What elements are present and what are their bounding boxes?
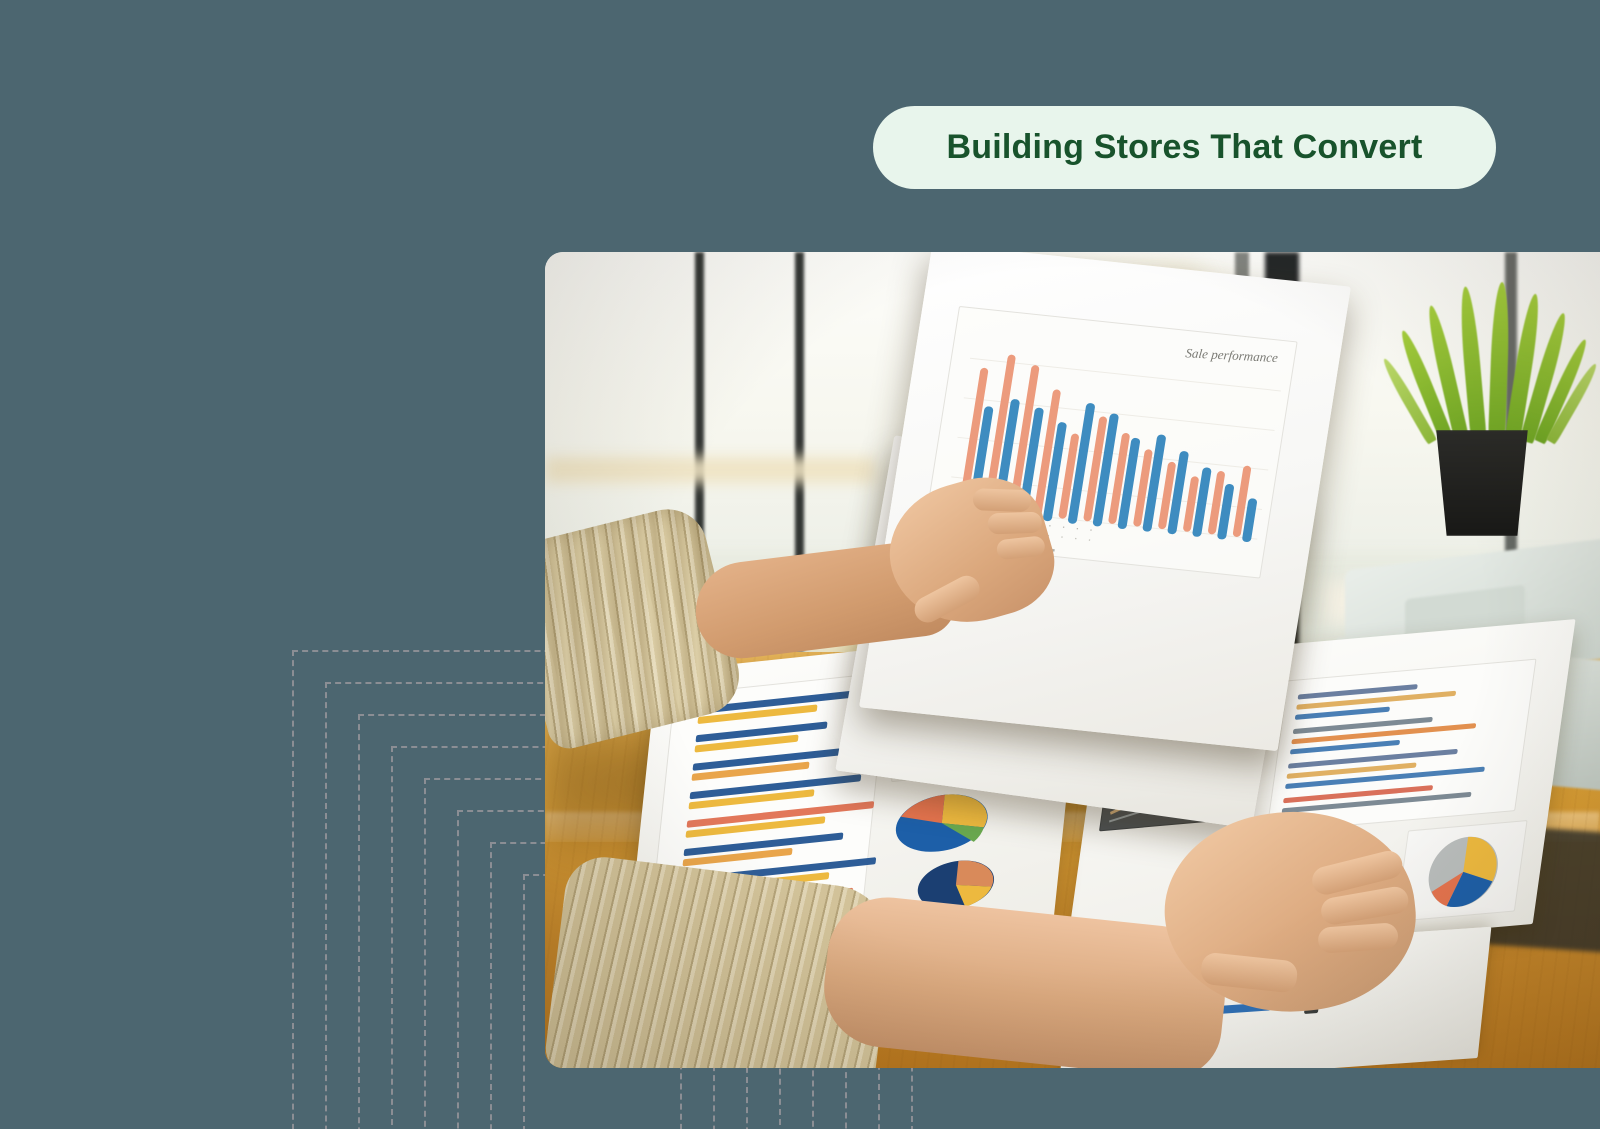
photo-vignette	[545, 252, 1600, 1068]
headline-badge: Building Stores That Convert	[873, 106, 1496, 189]
headline-badge-label: Building Stores That Convert	[947, 128, 1423, 167]
hero-photo: Sale performance	[545, 252, 1600, 1068]
page-root: Building Stores That Convert	[0, 0, 1600, 1129]
